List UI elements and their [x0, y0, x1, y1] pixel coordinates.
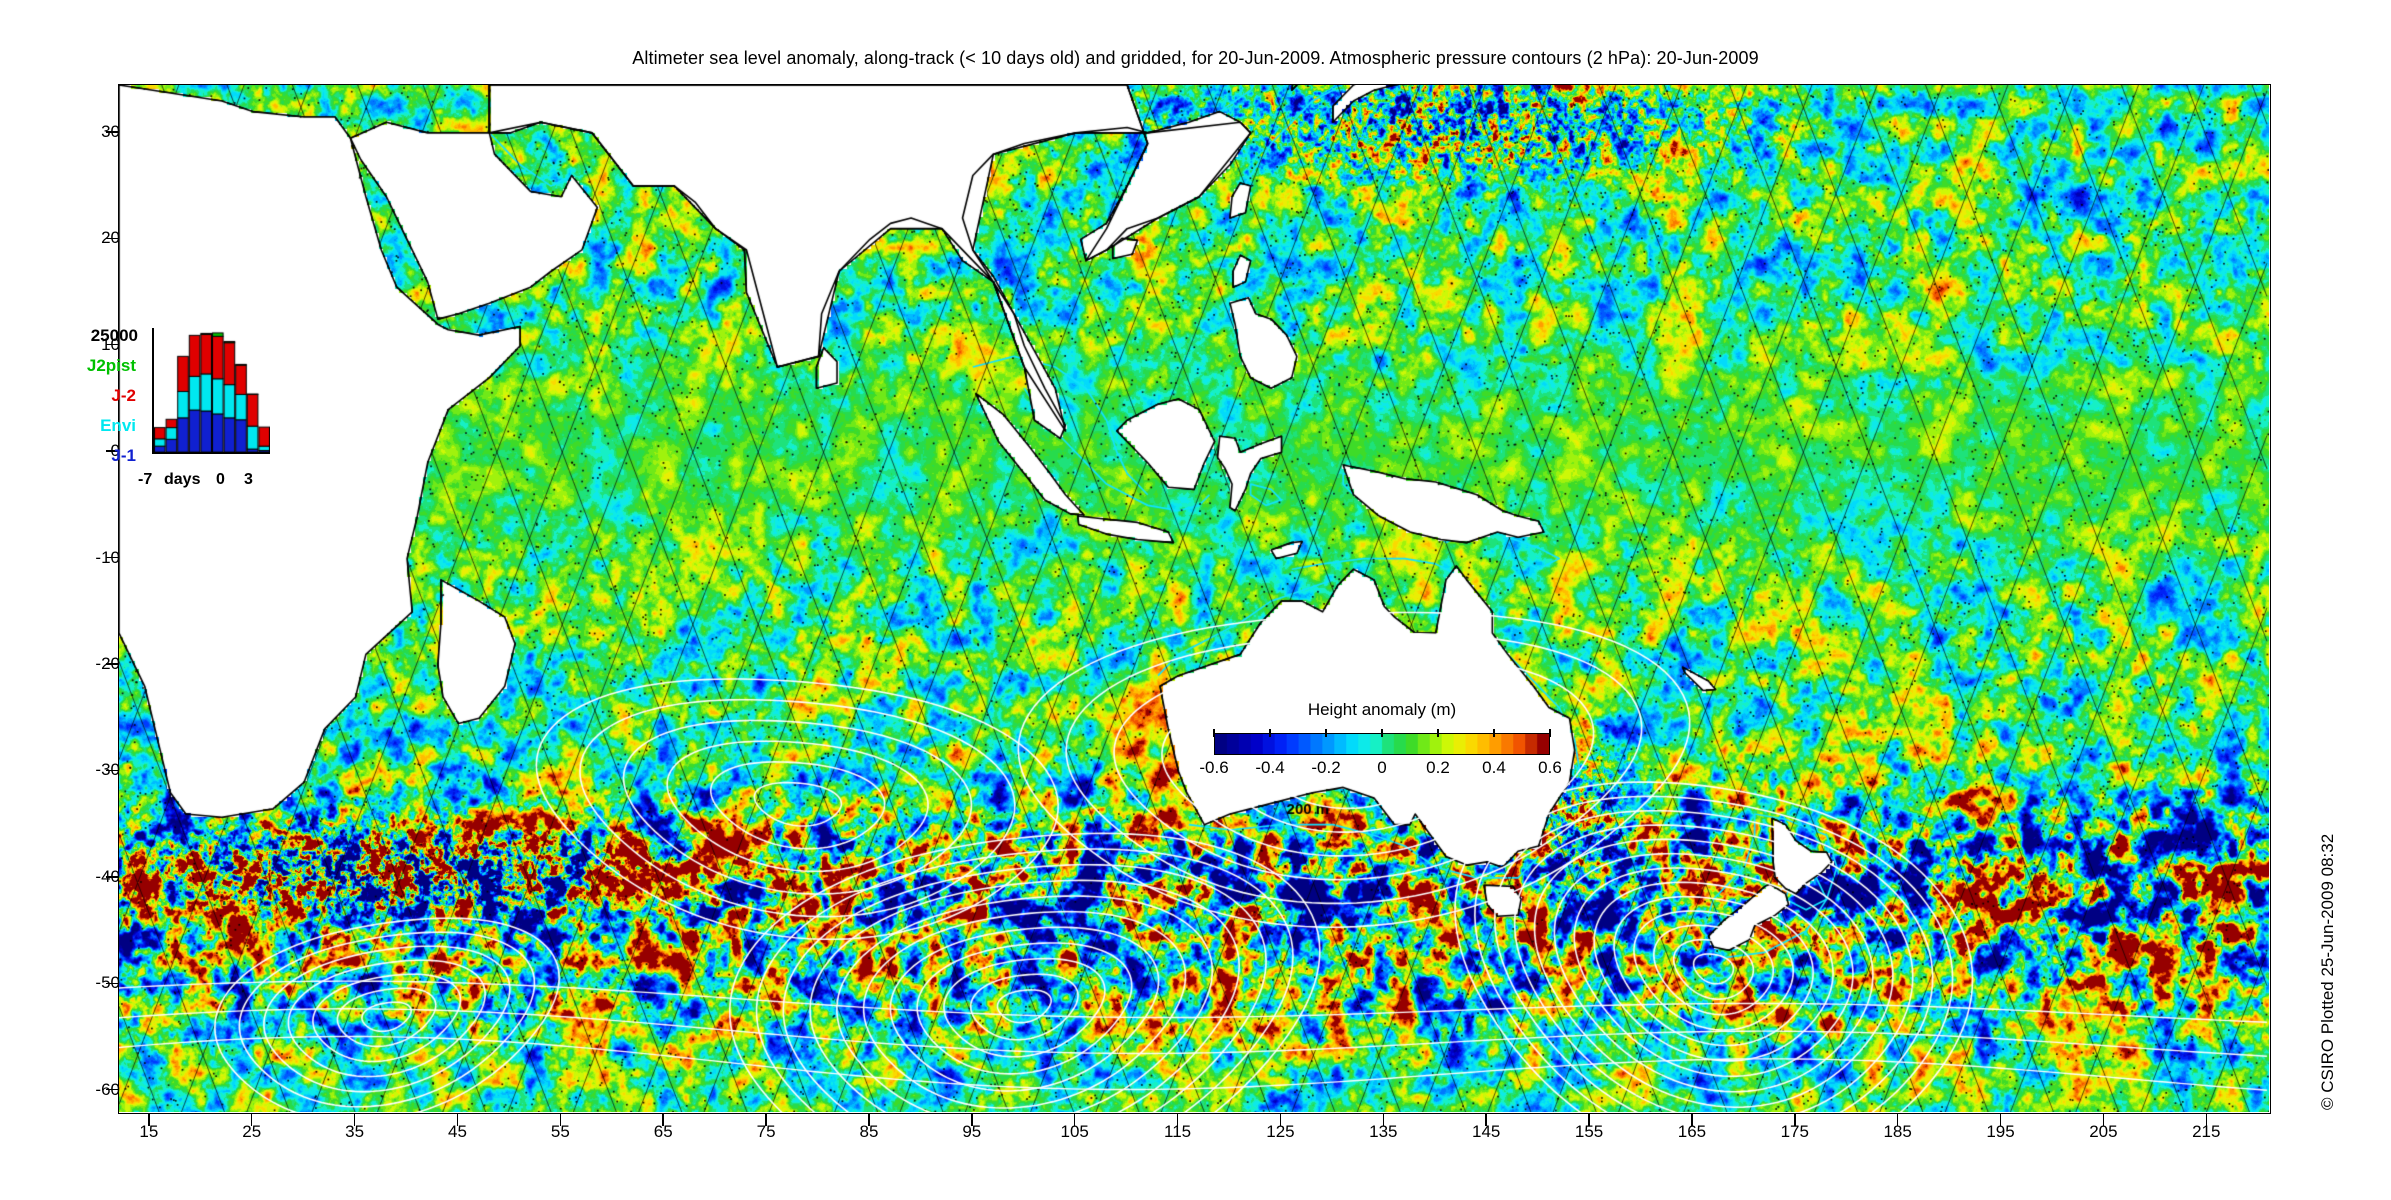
legend-key-j2: J-2: [111, 386, 136, 406]
colorbar-tick-mark: [1549, 729, 1551, 737]
x-tick-label: 95: [962, 1122, 981, 1142]
x-tick-label: 215: [2192, 1122, 2220, 1142]
figure-root: Altimeter sea level anomaly, along-track…: [0, 0, 2391, 1200]
x-tick-label: 145: [1472, 1122, 1500, 1142]
colorbar-tick-label: 0.6: [1538, 758, 1562, 778]
colorbar-tick-mark: [1213, 729, 1215, 737]
colorbar-tick-label: -0.4: [1255, 758, 1284, 778]
x-tick-label: 115: [1164, 1122, 1191, 1142]
satellite-data-count-histogram: 25000 J2pist J-2 Envi J-1 -7 days 0 3: [140, 330, 270, 470]
y-tick-label: -60: [95, 1080, 120, 1100]
x-tick-label: 25: [242, 1122, 261, 1142]
x-tick-label: 65: [654, 1122, 673, 1142]
x-tick-label: 75: [757, 1122, 776, 1142]
y-tick-label: 30: [101, 122, 120, 142]
x-tick-label: 155: [1575, 1122, 1603, 1142]
y-tick-label: -30: [95, 760, 120, 780]
colorbar-tick-label: 0.2: [1426, 758, 1450, 778]
colorbar-tick-mark: [1381, 729, 1383, 737]
x-tick-label: 125: [1266, 1122, 1294, 1142]
x-tick-label: 185: [1883, 1122, 1911, 1142]
x-tick-label: 55: [551, 1122, 570, 1142]
y-tick-label: -40: [95, 867, 120, 887]
inset-xlabel-units: days: [164, 471, 200, 489]
colorbar-tick-mark: [1269, 729, 1271, 737]
colorbar: Height anomaly (m) -0.6-0.4-0.200.20.40.…: [1196, 700, 1568, 792]
colorbar-tick-mark: [1493, 729, 1495, 737]
x-tick-label: 135: [1369, 1122, 1397, 1142]
colorbar-tick-label: -0.6: [1199, 758, 1228, 778]
colorbar-tick-label: -0.2: [1311, 758, 1340, 778]
colorbar-tick-mark: [1437, 729, 1439, 737]
x-tick-label: 15: [139, 1122, 158, 1142]
x-tick-label: 205: [2089, 1122, 2117, 1142]
copyright-notice: © CSIRO Plotted 25-Jun-2009 08:32: [2318, 834, 2338, 1110]
legend-key-j2pist: J2pist: [87, 356, 136, 376]
x-tick-label: 195: [1986, 1122, 2014, 1142]
x-tick-label: 105: [1061, 1122, 1089, 1142]
inset-xlabel-mid: 0: [216, 471, 225, 489]
inset-xlabel-right: 3: [244, 471, 253, 489]
colorbar-title: Height anomaly (m): [1196, 700, 1568, 720]
inset-histogram-bars: [154, 330, 270, 452]
colorbar-tick-label: 0: [1377, 758, 1386, 778]
legend-key-j1: J-1: [111, 446, 136, 466]
legend-key-envi: Envi: [100, 416, 136, 436]
x-tick-label: 85: [859, 1122, 878, 1142]
x-tick-label: 45: [448, 1122, 467, 1142]
x-tick-label: 175: [1781, 1122, 1809, 1142]
x-tick-label: 165: [1678, 1122, 1706, 1142]
inset-y-max-label: 25000: [91, 326, 138, 346]
map-plot-area[interactable]: [118, 84, 2271, 1114]
y-tick-label: -10: [95, 548, 120, 568]
y-tick-label: 20: [101, 228, 120, 248]
y-tick-label: -20: [95, 654, 120, 674]
x-tick-label: 35: [345, 1122, 364, 1142]
sea-level-anomaly-map: [119, 85, 2269, 1112]
inset-x-axis: [152, 452, 270, 454]
inset-xlabel-left: -7: [138, 471, 152, 489]
page-title: Altimeter sea level anomaly, along-track…: [0, 48, 2391, 69]
colorbar-tick-label: 0.4: [1482, 758, 1506, 778]
colorbar-tick-mark: [1325, 729, 1327, 737]
y-tick-label: -50: [95, 973, 120, 993]
